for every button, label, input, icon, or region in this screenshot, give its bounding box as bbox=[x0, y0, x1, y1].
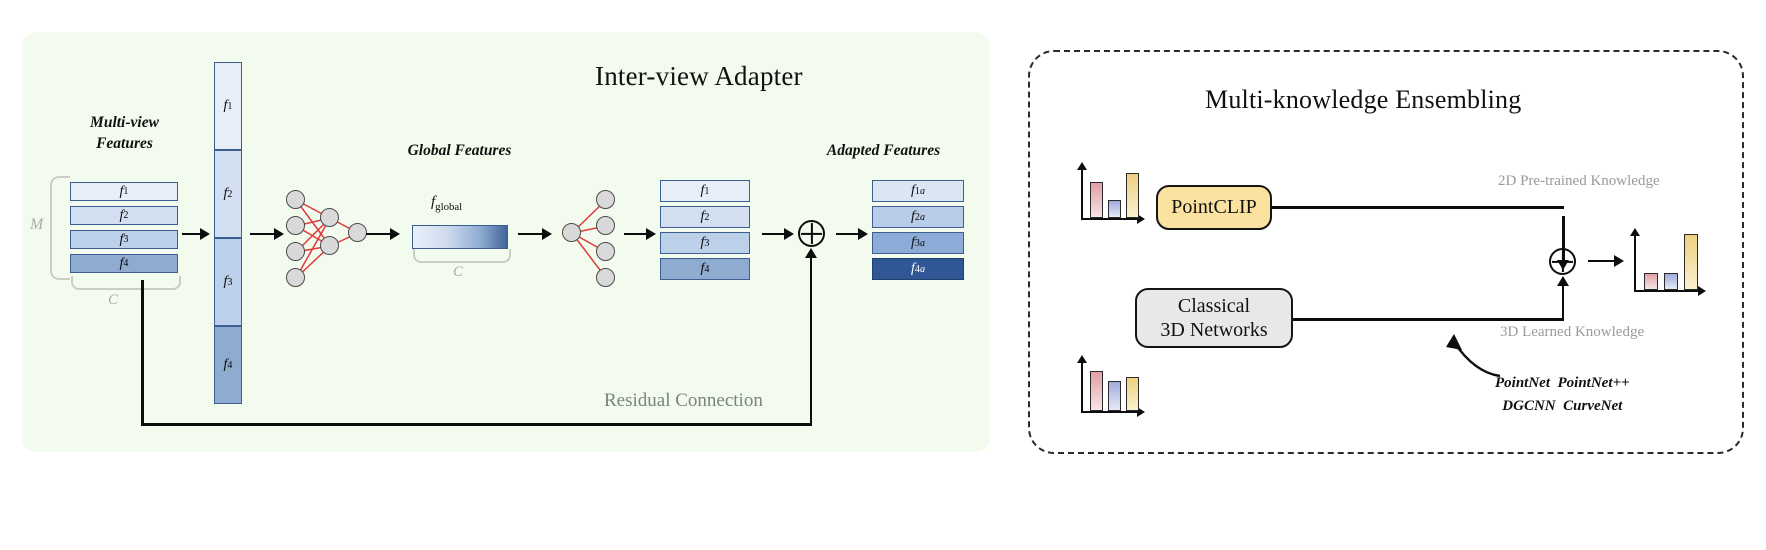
encoder-node bbox=[286, 242, 305, 261]
classical-3d-networks-label: Classical3D Networks bbox=[1160, 294, 1267, 343]
encoder-node bbox=[286, 268, 305, 287]
global-feature-bar bbox=[412, 225, 508, 249]
c-dimension-brace bbox=[71, 276, 181, 290]
c-dimension-label: C bbox=[108, 292, 118, 309]
arrow-to-output-chart bbox=[1588, 260, 1622, 262]
residual-path-horizontal bbox=[141, 423, 812, 426]
multiview-features-caption: Multi-viewFeatures bbox=[62, 113, 187, 155]
classical-3d-networks-box[interactable]: Classical3D Networks bbox=[1135, 288, 1293, 348]
arrow-to-decoder bbox=[518, 233, 550, 235]
classical-input-chart bbox=[1081, 355, 1145, 413]
classical-connector-horizontal bbox=[1293, 318, 1564, 321]
encoder-node bbox=[348, 223, 367, 242]
page-title: Inter-view Adapter bbox=[595, 61, 803, 92]
multiview-feature-row: f2 bbox=[70, 206, 178, 225]
encoder-node bbox=[320, 208, 339, 227]
m-dimension-label: M bbox=[30, 216, 44, 234]
pointclip-box[interactable]: PointCLIP bbox=[1156, 185, 1272, 230]
residual-path-arrow bbox=[810, 250, 812, 426]
clip-connector-horizontal bbox=[1272, 206, 1564, 209]
global-features-caption: Global Features bbox=[392, 141, 527, 162]
adapted-feature-row: f1a bbox=[872, 180, 964, 202]
long-vector-segment: f3 bbox=[214, 238, 242, 326]
arrow-to-encoder bbox=[250, 233, 282, 235]
residual-connection-label: Residual Connection bbox=[604, 390, 763, 412]
knowledge-3d-label: 3D Learned Knowledge bbox=[1500, 324, 1644, 341]
clip-input-chart bbox=[1081, 162, 1145, 220]
plus-circle-icon bbox=[1549, 248, 1576, 275]
arrow-to-adapted bbox=[836, 233, 866, 235]
adapted-features-caption: Adapted Features bbox=[806, 141, 961, 162]
c-dimension-label-global: C bbox=[453, 264, 463, 281]
decoded-feature-row: f4 bbox=[660, 258, 750, 280]
multiview-feature-row: f4 bbox=[70, 254, 178, 273]
adapted-feature-row: f2a bbox=[872, 206, 964, 228]
m-dimension-brace bbox=[50, 176, 70, 280]
encoder-node bbox=[286, 216, 305, 235]
ensembled-output-chart bbox=[1634, 228, 1706, 292]
knowledge-2d-label: 2D Pre-trained Knowledge bbox=[1498, 173, 1660, 190]
arrow-to-fc bbox=[624, 233, 654, 235]
decoded-feature-row: f3 bbox=[660, 232, 750, 254]
decoder-node bbox=[596, 216, 615, 235]
decoded-feature-row: f2 bbox=[660, 206, 750, 228]
classical-connector-arrow bbox=[1562, 278, 1564, 320]
adapted-feature-row: f3a bbox=[872, 232, 964, 254]
multiview-feature-row: f1 bbox=[70, 182, 178, 201]
decoder-node bbox=[596, 190, 615, 209]
network-names-label: PointNet PointNet++DGCNN CurveNet bbox=[1495, 372, 1630, 419]
decoder-node bbox=[596, 268, 615, 287]
arrow-to-global bbox=[366, 233, 398, 235]
plus-circle-icon bbox=[798, 220, 825, 247]
decoder-node bbox=[596, 242, 615, 261]
long-vector-segment: f2 bbox=[214, 150, 242, 238]
encoder-node bbox=[286, 190, 305, 209]
encoder-node bbox=[320, 236, 339, 255]
decoded-feature-row: f1 bbox=[660, 180, 750, 202]
long-vector-segment: f1 bbox=[214, 62, 242, 150]
ensemble-title: Multi-knowledge Ensembling bbox=[1205, 85, 1521, 115]
residual-path-vertical bbox=[141, 280, 144, 426]
global-feature-label: fglobal bbox=[431, 194, 462, 213]
arrow-concat bbox=[182, 233, 208, 235]
adapted-feature-row: f4a bbox=[872, 258, 964, 280]
long-vector-segment: f4 bbox=[214, 326, 242, 404]
decoder-node bbox=[562, 223, 581, 242]
c-dimension-brace-global bbox=[413, 249, 511, 263]
multiview-feature-row: f3 bbox=[70, 230, 178, 249]
arrow-to-sum bbox=[762, 233, 792, 235]
